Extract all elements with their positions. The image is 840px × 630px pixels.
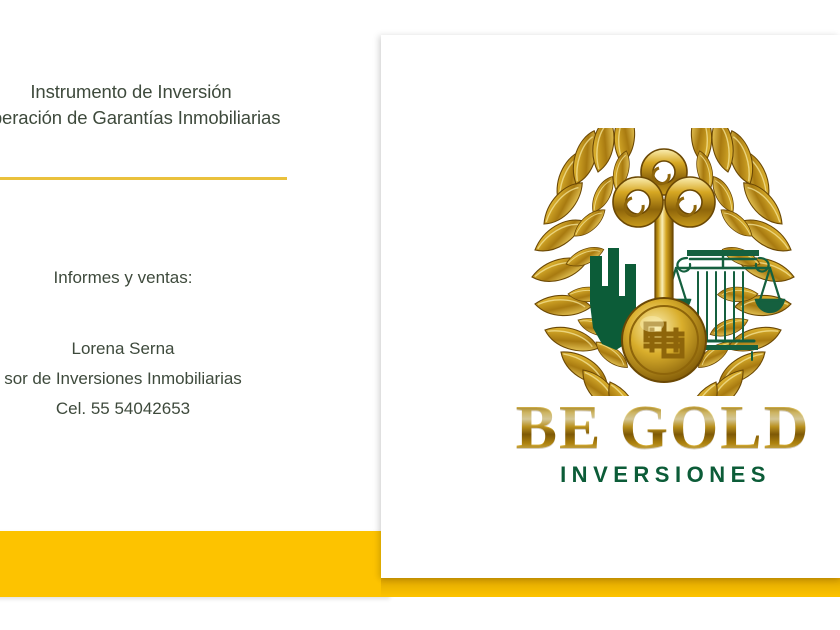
brand-logo: BE GOLD INVERSIONES xyxy=(498,128,828,508)
contact-phone: Cel. 55 54042653 xyxy=(0,394,268,424)
contact-name: Lorena Serna xyxy=(0,334,268,364)
logo-word-be-gold: BE GOLD xyxy=(498,396,828,460)
contact-block: Informes y ventas: Lorena Serna sor de I… xyxy=(0,266,268,424)
contact-role: sor de Inversiones Inmobiliarias xyxy=(0,364,268,394)
title-block: Instrumento de Inversión uperación de Ga… xyxy=(0,79,296,131)
bottom-accent-band-left xyxy=(0,531,390,597)
logo-word-inversiones: INVERSIONES xyxy=(498,460,828,490)
contact-spacer xyxy=(0,290,268,334)
contact-lead-label: Informes y ventas: xyxy=(0,266,268,290)
title-divider-rule xyxy=(0,177,287,180)
title-line-2: uperación de Garantías Inmobiliarias xyxy=(0,105,296,131)
bottom-accent-band-right xyxy=(381,578,840,597)
title-line-1: Instrumento de Inversión xyxy=(0,79,296,105)
logo-emblem xyxy=(498,128,828,396)
logo-wordmark: BE GOLD INVERSIONES xyxy=(498,396,828,490)
slide-canvas: Instrumento de Inversión uperación de Ga… xyxy=(0,0,840,630)
